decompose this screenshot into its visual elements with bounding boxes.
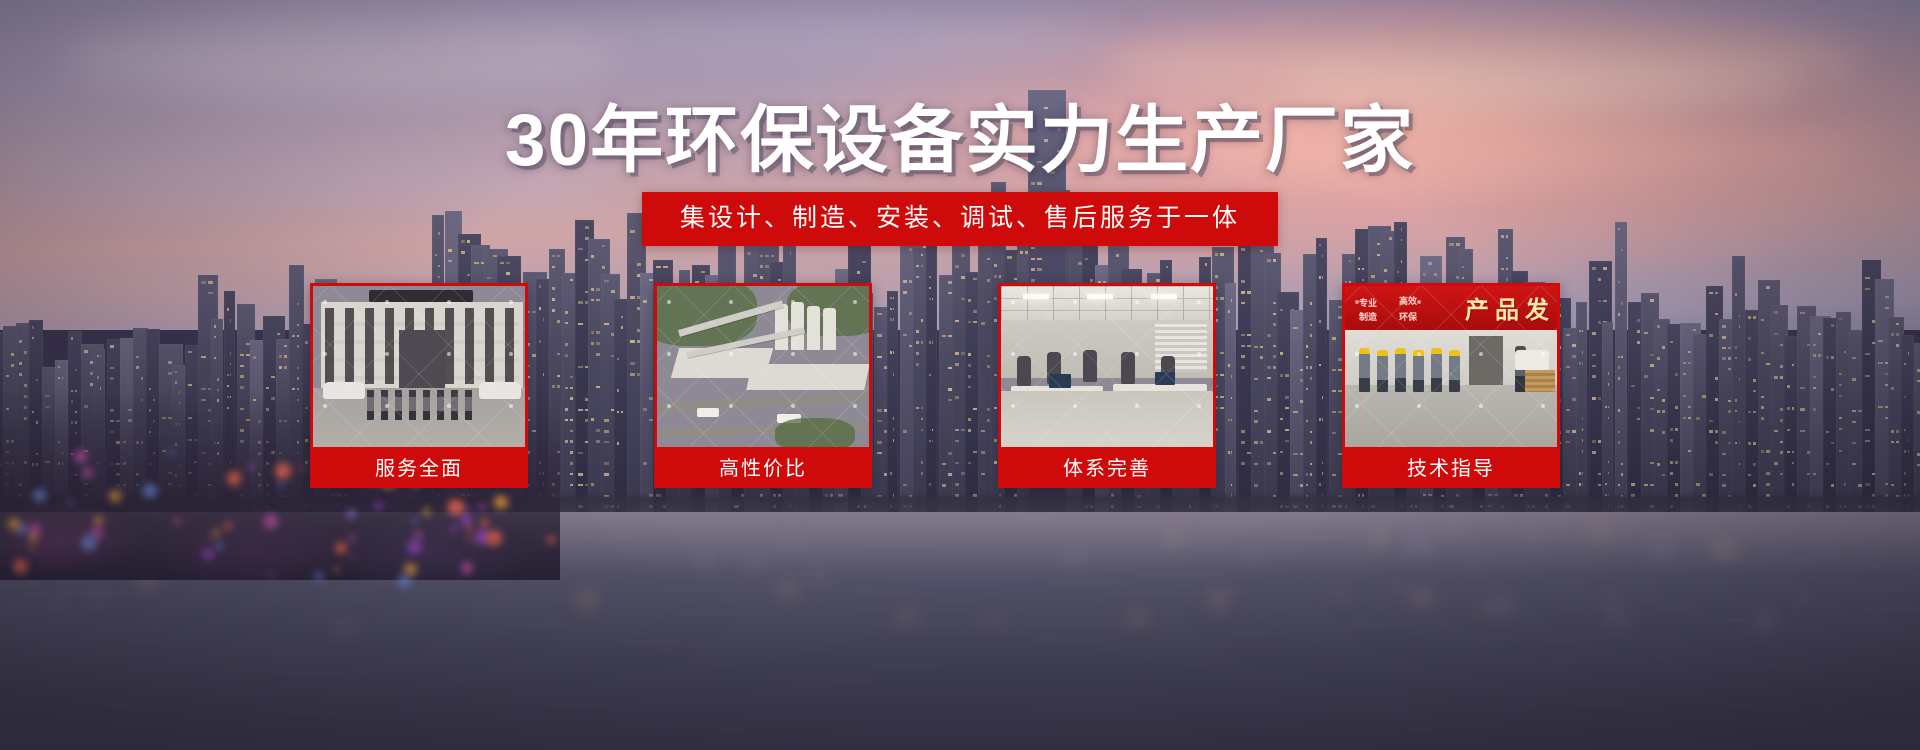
truck — [697, 408, 719, 417]
watermark-dot — [853, 352, 857, 356]
worker-figure — [1395, 348, 1406, 392]
banner-character: 制造 — [1359, 310, 1377, 323]
banner-content: 30年环保设备实力生产厂家 集设计、制造、安装、调试、售后服务于一体 — [0, 0, 1920, 750]
card-photo-aerial-plant — [657, 286, 869, 447]
watermark-dot — [791, 352, 795, 356]
laptop-screen — [1155, 372, 1175, 385]
watermark-dot — [853, 404, 857, 408]
staff-figure — [381, 390, 388, 420]
vegetation-patch — [775, 418, 855, 447]
seated-person — [1083, 350, 1097, 382]
staff-figure — [437, 390, 444, 420]
card-caption: 服务全面 — [313, 447, 525, 485]
page-title: 30年环保设备实力生产厂家 — [0, 103, 1920, 179]
parked-car — [479, 382, 521, 399]
subtitle-badge: 集设计、制造、安装、调试、售后服务于一体 — [642, 192, 1278, 246]
hero-banner: 30年环保设备实力生产厂家 集设计、制造、安装、调试、售后服务于一体 — [0, 0, 1920, 750]
office-floor — [1001, 391, 1213, 447]
seated-person — [1017, 356, 1031, 386]
ceiling-grid — [1001, 286, 1213, 320]
feature-card[interactable]: 高性价比 — [654, 283, 872, 488]
ceiling-light — [1087, 294, 1113, 299]
card-photo-office-interior — [1001, 286, 1213, 447]
staff-figure — [423, 390, 430, 420]
staff-figure — [451, 390, 458, 420]
worker-figure — [1359, 348, 1370, 392]
watermark-dot — [667, 352, 671, 356]
worker-figure — [1413, 350, 1424, 392]
storage-silo — [791, 302, 804, 350]
feature-card[interactable]: 产 品 发 专业 制造 高效 环保 — [1342, 283, 1560, 488]
feature-card-list: 服务全面 — [310, 283, 1560, 498]
storage-silo — [823, 308, 836, 350]
plant-roof — [746, 364, 869, 390]
laptop-screen — [1049, 374, 1071, 388]
factory-ground — [1345, 385, 1557, 447]
banner-character: 产 — [1465, 290, 1489, 325]
delivery-van — [1515, 350, 1549, 370]
ceiling-light — [1151, 294, 1177, 299]
factory-door — [1469, 336, 1503, 392]
rooftop-sign — [369, 290, 473, 302]
subtitle-container: 集设计、制造、安装、调试、售后服务于一体 — [0, 192, 1920, 246]
staff-figure — [409, 390, 416, 420]
parked-car — [323, 382, 365, 399]
material-stack — [1525, 370, 1555, 392]
card-caption: 高性价比 — [657, 447, 869, 485]
worker-figure — [1449, 350, 1460, 392]
worker-figure — [1431, 348, 1442, 392]
banner-character: 发 — [1525, 290, 1549, 325]
storage-silo — [807, 306, 820, 350]
banner-character: 专业 — [1359, 296, 1377, 309]
banner-character: 环保 — [1399, 310, 1417, 323]
worker-figure — [1377, 350, 1388, 392]
feature-card[interactable]: 体系完善 — [998, 283, 1216, 488]
storage-silo — [775, 304, 788, 350]
staff-figure — [367, 390, 374, 420]
banner-character: 品 — [1495, 290, 1519, 325]
card-caption: 体系完善 — [1001, 447, 1213, 485]
staff-figure — [465, 390, 472, 420]
card-photo-office-building — [313, 286, 525, 447]
staff-figure — [395, 390, 402, 420]
ceiling-light — [1023, 294, 1049, 299]
access-road — [657, 392, 869, 412]
seated-person — [1121, 352, 1135, 384]
card-caption: 技术指导 — [1345, 447, 1557, 485]
feature-card[interactable]: 服务全面 — [310, 283, 528, 488]
card-photo-factory-workers: 产 品 发 专业 制造 高效 环保 — [1345, 286, 1557, 447]
building-entrance — [399, 330, 445, 388]
banner-character: 高效 — [1399, 294, 1417, 307]
